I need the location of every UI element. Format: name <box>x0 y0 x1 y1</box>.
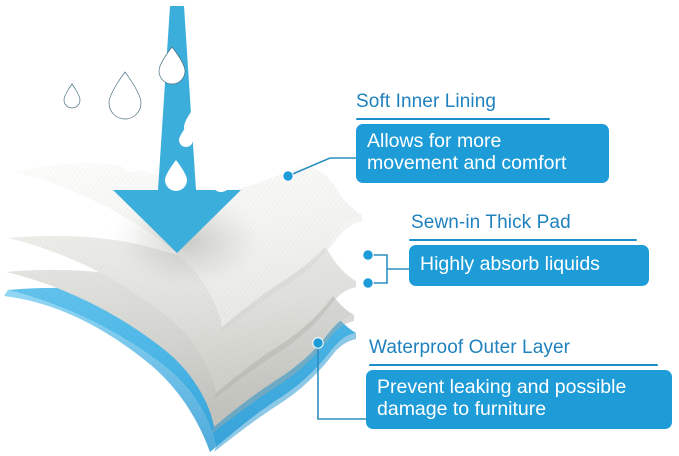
callout-body-soft-inner-lining: Allows for more movement and comfort <box>356 124 609 183</box>
callout-rule-soft-inner-lining <box>356 118 550 120</box>
callout-body-sewn-in-thick-pad: Highly absorb liquids <box>409 245 649 286</box>
callout-heading-waterproof-outer-layer: Waterproof Outer Layer <box>369 338 675 359</box>
callout-rule-sewn-in-thick-pad <box>409 239 637 241</box>
callout-heading-soft-inner-lining: Soft Inner Lining <box>356 92 612 113</box>
callout-waterproof-outer-layer: Waterproof Outer Layer Prevent leaking a… <box>369 338 675 429</box>
callout-soft-inner-lining: Soft Inner Lining Allows for more moveme… <box>356 92 612 183</box>
callout-sewn-in-thick-pad: Sewn-in Thick Pad Highly absorb liquids <box>409 213 649 286</box>
infographic-canvas: Soft Inner Lining Allows for more moveme… <box>0 0 679 456</box>
callout-body-waterproof-outer-layer: Prevent leaking and possible damage to f… <box>366 370 672 429</box>
callout-heading-sewn-in-thick-pad: Sewn-in Thick Pad <box>411 213 649 234</box>
callout-rule-waterproof-outer-layer <box>369 364 658 366</box>
